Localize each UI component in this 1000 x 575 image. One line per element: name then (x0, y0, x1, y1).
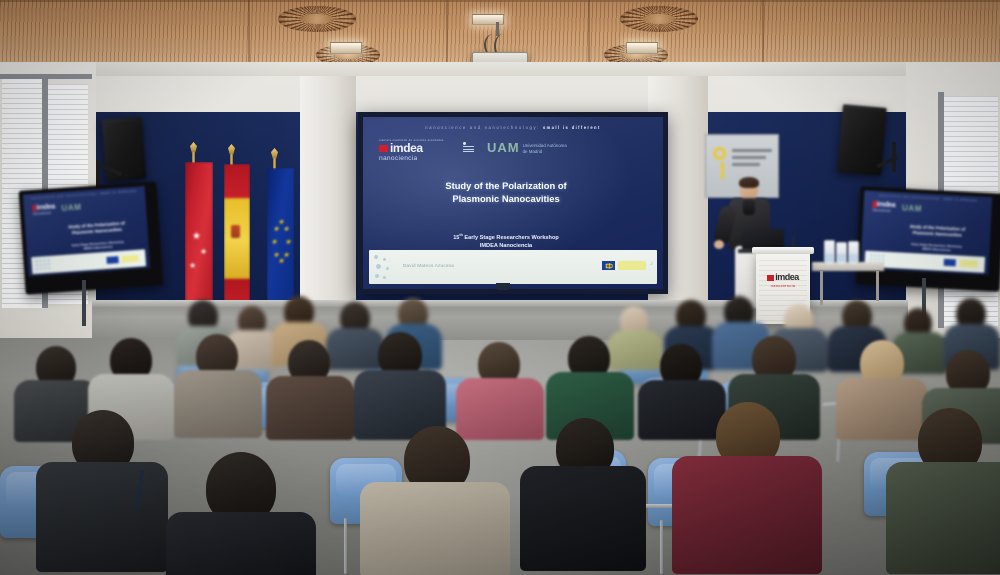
slide-subtitle: 15th Early Stage Researchers Workshop IM… (363, 233, 649, 251)
attendee-body (360, 482, 510, 575)
chair-leg (344, 518, 347, 574)
podium-logo: imdea nanociencia (756, 272, 810, 288)
presentation-slide: nanoscience and nanotechnology: small is… (363, 117, 663, 289)
projection-screen: nanoscience and nanotechnology: small is… (358, 112, 668, 294)
ceiling-vent-icon (620, 6, 698, 32)
imdea-red-square-icon (767, 275, 774, 281)
eu-flag-icon (602, 261, 615, 270)
footer-glyph-icon: ♪ (650, 261, 653, 267)
ceiling-beam (0, 0, 1000, 2)
slide-banner: nanoscience and nanotechnology: small is… (363, 125, 663, 130)
spain-coat-of-arms-icon (231, 225, 240, 238)
attendee-body (672, 456, 822, 574)
presenter-name: David Mateos Azucena (403, 263, 454, 268)
recessed-ceiling-light (626, 42, 658, 54)
attendee-body (166, 512, 316, 575)
flag-european-union: ★ ★ ★ ★ ★ ★ ★ ★ (267, 168, 294, 316)
attendee-body (520, 466, 646, 571)
auditorium-photo: nanoscience and nanotechnology: small is… (0, 0, 1000, 575)
presenter-shirt (743, 199, 755, 215)
presenter-hair (739, 177, 759, 188)
imdea-logo: instituto madrileño de estudios avanzado… (379, 139, 444, 162)
slide-footer: David Mateos Azucena ♪ (369, 250, 657, 284)
ceiling-vent-icon (278, 6, 356, 32)
left-wall-loudspeaker (102, 117, 146, 182)
screen-bottom-mount (496, 283, 510, 290)
water-bottle (848, 241, 859, 265)
slide-logo-row: instituto madrileño de estudios avanzado… (379, 139, 653, 165)
attendee-body (36, 462, 168, 572)
plaque-text-lines (732, 149, 772, 170)
partner-mark-icon (463, 142, 474, 152)
eu-stars-icon: ★ ★ ★ ★ ★ ★ ★ ★ (272, 221, 289, 271)
speaker-bracket (892, 142, 896, 172)
presenter-hand (714, 240, 724, 249)
window-header (0, 74, 92, 79)
imdea-red-square-icon (379, 145, 388, 152)
funding-logo (618, 261, 646, 270)
key-circle-logo-icon (713, 147, 726, 160)
flag-spain (224, 164, 250, 316)
slide-title: Study of the Polarization of Plasmonic N… (363, 179, 649, 206)
left-repeater-monitor: nanoscience and nanotechnology: small is… (19, 181, 164, 294)
water-bottle (836, 242, 847, 265)
molecule-dots-icon (372, 253, 398, 281)
wall-pillar-left (300, 76, 356, 326)
chair-leg (660, 520, 663, 574)
water-bottle (824, 240, 835, 265)
audience-front-rows (0, 400, 1000, 575)
uam-logo: UAM Universidad Autónoma de Madrid (487, 141, 567, 154)
podium-top (752, 247, 814, 254)
attendee-body (886, 462, 1000, 574)
recessed-ceiling-light (330, 42, 362, 54)
flag-community-of-madrid: ★ ★ ★ (185, 162, 213, 318)
